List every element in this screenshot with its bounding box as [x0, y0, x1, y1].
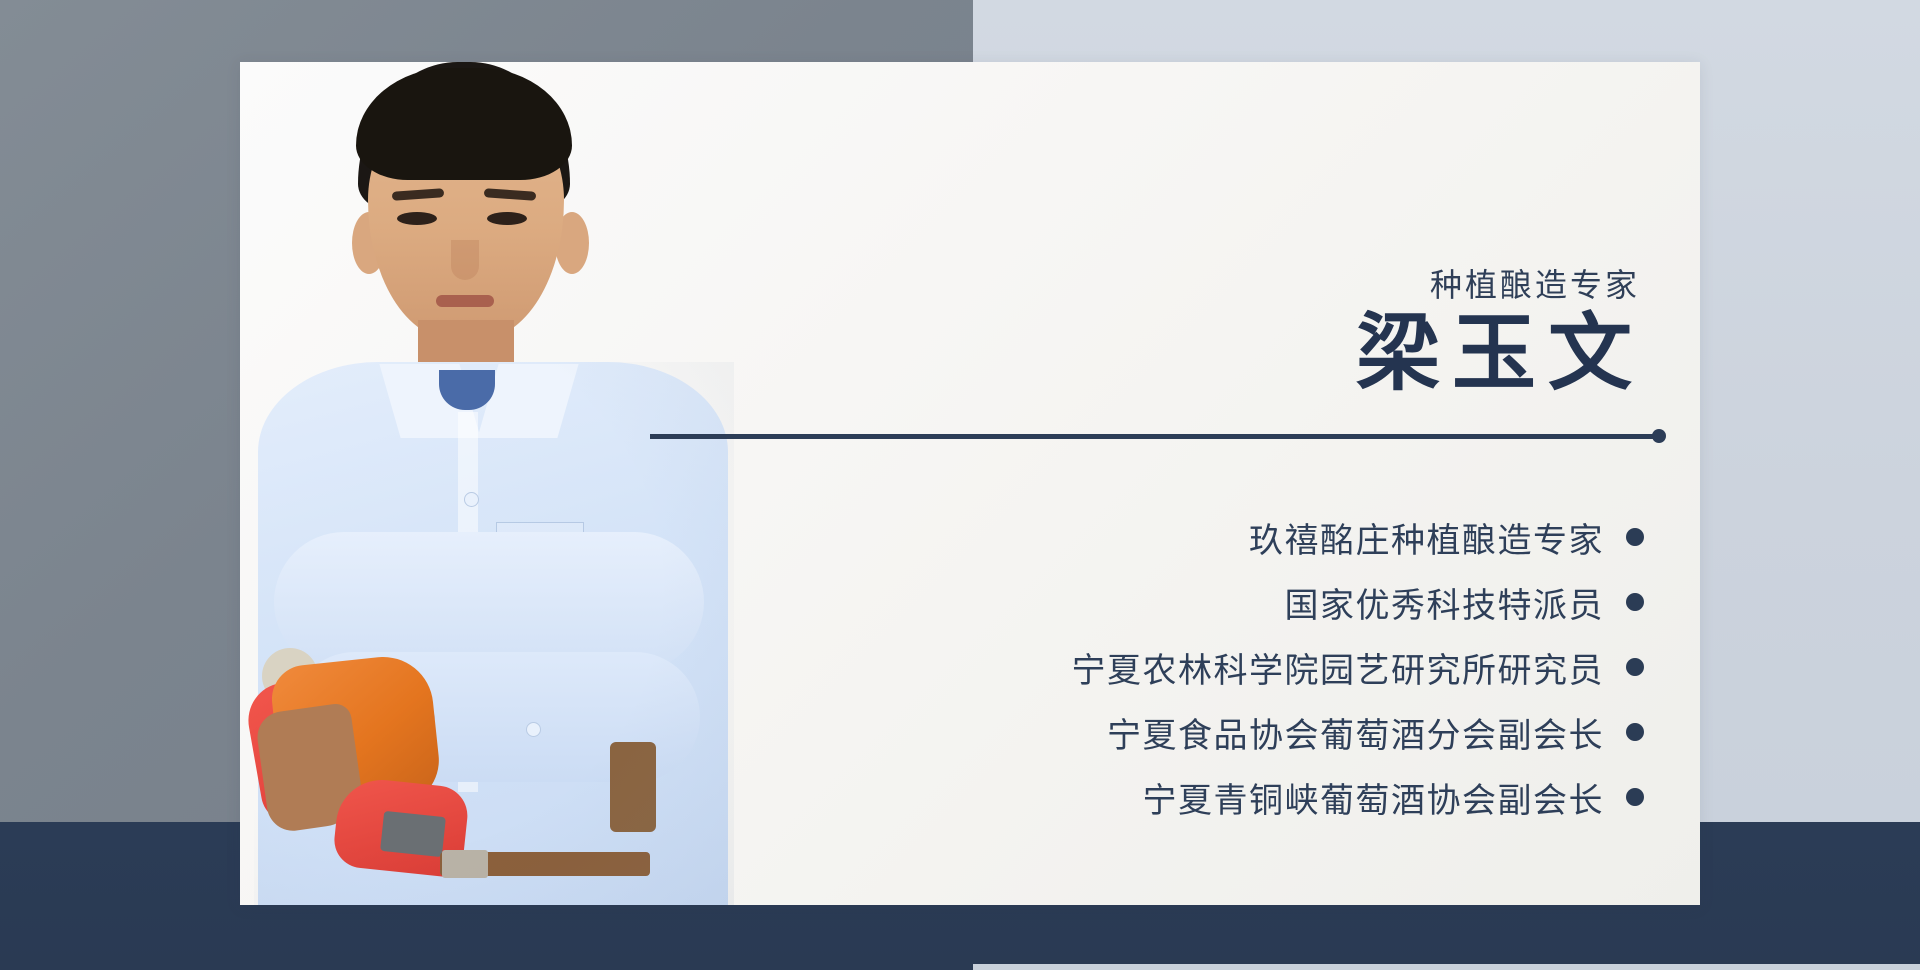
portrait-eye-left	[397, 212, 437, 225]
credential-text: 宁夏食品协会葡萄酒分会副会长	[1107, 708, 1604, 757]
list-item: 宁夏食品协会葡萄酒分会副会长	[644, 705, 1644, 759]
bullet-dot-icon	[1626, 528, 1644, 546]
portrait-nose	[451, 240, 479, 280]
list-item: 宁夏青铜峡葡萄酒协会副会长	[644, 770, 1644, 824]
bullet-dot-icon	[1626, 788, 1644, 806]
list-item: 玖禧酩庄种植酿造专家	[644, 510, 1644, 564]
credential-text: 宁夏青铜峡葡萄酒协会副会长	[1143, 773, 1605, 822]
portrait-mouth	[436, 295, 494, 307]
portrait-eye-right	[487, 212, 527, 225]
profile-card: 种植酿造专家 梁玉文 玖禧酩庄种植酿造专家 国家优秀科技特派员 宁夏农林科学院园…	[240, 62, 1700, 905]
credentials-list: 玖禧酩庄种植酿造专家 国家优秀科技特派员 宁夏农林科学院园艺研究所研究员 宁夏食…	[644, 510, 1644, 835]
list-item: 宁夏农林科学院园艺研究所研究员	[644, 640, 1644, 694]
bullet-dot-icon	[1626, 593, 1644, 611]
divider-end-dot	[1652, 429, 1666, 443]
credential-text: 宁夏农林科学院园艺研究所研究员	[1072, 643, 1605, 692]
divider-line	[650, 434, 1660, 439]
profile-banner: 种植酿造专家 梁玉文 玖禧酩庄种植酿造专家 国家优秀科技特派员 宁夏农林科学院园…	[0, 0, 1920, 970]
bullet-dot-icon	[1626, 658, 1644, 676]
bullet-dot-icon	[1626, 723, 1644, 741]
role-label: 种植酿造专家	[1430, 260, 1640, 306]
background-bottom-strip	[973, 964, 1920, 970]
credential-text: 玖禧酩庄种植酿造专家	[1249, 513, 1604, 562]
person-name: 梁玉文	[1356, 310, 1644, 399]
portrait-hair-top	[356, 68, 572, 180]
credential-text: 国家优秀科技特派员	[1285, 578, 1605, 627]
list-item: 国家优秀科技特派员	[644, 575, 1644, 629]
